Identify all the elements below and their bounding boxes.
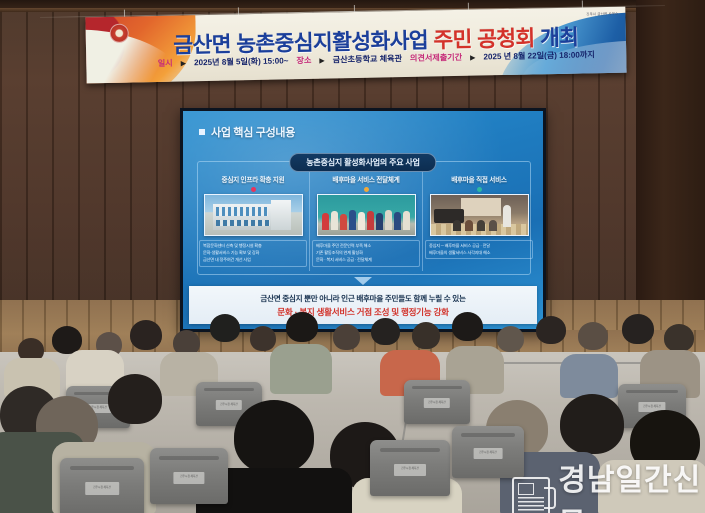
audience-body [270, 344, 332, 394]
bullet-item: 배후마을의 생활서비스 사각지대 해소 [429, 250, 529, 256]
chair-tag: 진주시청 체육관 [394, 464, 426, 476]
column-header: 배후마을 직접 서비스 [451, 174, 507, 184]
triangle-icon: ▶ [181, 59, 187, 67]
chair-tag: 진주시청 체육관 [216, 400, 242, 410]
chair: 진주시청 체육관 [370, 440, 450, 496]
column-dot-icon [477, 187, 482, 192]
presentation-slide: 사업 핵심 구성내용 농촌중심지 활성화사업의 주요 사업 중심지 인프라 확충… [183, 111, 543, 329]
audience-head [578, 322, 608, 350]
bullet-item: 금산면 내 정주여건 개선 사업 [203, 257, 303, 263]
audience-head [497, 326, 524, 352]
audience-area: 진주시청 체육관 진주시청 체육관 진주시청 체육관 진주시청 체육관 진주시청… [0, 300, 705, 513]
down-arrow-icon [354, 277, 372, 285]
chair-tag: 진주시청 체육관 [85, 482, 119, 495]
column-photo [317, 194, 416, 236]
column-photo [204, 194, 303, 236]
audience-head [371, 318, 400, 345]
audience-head [412, 322, 440, 349]
bullet-item: 배후마을 주민 전문인력 부족 해소 [316, 243, 416, 249]
chair-tag: 진주시청 체육관 [173, 472, 204, 484]
square-bullet-icon [199, 129, 205, 135]
banner-corner-note: 진주시 금산면 사무소 [586, 12, 618, 18]
audience-head [286, 312, 318, 342]
audience-head [560, 394, 624, 454]
triangle-icon: ▶ [319, 56, 325, 64]
banner-date-label: 일시 [158, 58, 173, 69]
banner-comment-label: 의견서제출기간 [410, 52, 462, 64]
column-header: 중심지 인프라 확충 지원 [222, 174, 285, 184]
bullet-item: 문화 · 복지 서비스 공급 · 전달체계 [316, 257, 416, 263]
audience-body [598, 460, 705, 513]
banner-date-value: 2025년 8월 5일(화) 15:00~ [194, 55, 289, 68]
audience-head [108, 374, 162, 424]
audience-body [560, 354, 618, 398]
column-bullets: 배후마을 주민 전문인력 부족 해소 기존 활동조직의 연계 활성화 문화 · … [312, 240, 420, 267]
chair-tag: 진주시청 체육관 [424, 398, 450, 408]
column-photo [430, 194, 529, 236]
event-banner: 진주시 금산면 사무소 금산면 농촌중심지활성화사업 주민 공청회 개최 일시 … [85, 7, 626, 84]
column-header: 배후마을 서비스 전달체계 [332, 174, 399, 184]
slide-heading-text: 사업 핵심 구성내용 [211, 124, 295, 140]
bullet-item: 기존 활동조직의 연계 활성화 [316, 250, 416, 256]
audience-head [130, 320, 162, 350]
column-dot-icon [364, 187, 369, 192]
bullet-item: 중심지 ─ 배후마을 서비스 공급 · 전달 [429, 243, 529, 249]
wall-door [636, 0, 705, 340]
slide-column: 배후마을 직접 서비스 중심지 ─ 배후마을 서비스 공급 · 전달 배후마을의… [425, 165, 533, 273]
chair: 진주시청 체육관 [150, 448, 228, 504]
audience-head [333, 324, 360, 350]
audience-head [250, 326, 276, 351]
column-dot-icon [251, 187, 256, 192]
audience-head [234, 400, 314, 474]
audience-head [664, 324, 694, 352]
chair: 진주시청 체육관 [60, 458, 144, 513]
chair: 진주시청 체육관 [452, 426, 524, 478]
slide-column: 중심지 인프라 확충 지원 복합문화센터 신축 및 행정시설 확충 문화·생활서… [199, 165, 307, 273]
photograph-scene: 진주시 금산면 사무소 금산면 농촌중심지활성화사업 주민 공청회 개최 일시 … [0, 0, 705, 513]
banner-place-value: 금산초등학교 체육관 [333, 53, 402, 65]
bullet-item: 문화·생활서비스 기능 확보 및 강화 [203, 250, 303, 256]
triangle-icon: ▶ [470, 53, 476, 61]
banner-place-label: 장소 [296, 55, 311, 66]
banner-title-part2: 주민 공청회 [433, 26, 535, 52]
projection-screen: 사업 핵심 구성내용 농촌중심지 활성화사업의 주요 사업 중심지 인프라 확충… [180, 108, 546, 332]
chair: 진주시청 체육관 [404, 380, 470, 424]
chair-tag: 진주시청 체육관 [474, 448, 503, 459]
slide-column: 배후마을 서비스 전달체계 [312, 165, 420, 273]
column-bullets: 중심지 ─ 배후마을 서비스 공급 · 전달 배후마을의 생활서비스 사각지대 … [425, 240, 533, 260]
slide-title-box: 농촌중심지 활성화사업의 주요 사업 [289, 153, 436, 172]
slide-heading: 사업 핵심 구성내용 [199, 124, 295, 140]
audience-head [210, 314, 240, 342]
column-bullets: 복합문화센터 신축 및 행정시설 확충 문화·생활서비스 기능 확보 및 강화 … [199, 240, 307, 267]
banner-title-part3: 개최 [540, 26, 579, 51]
slide-columns: 중심지 인프라 확충 지원 복합문화센터 신축 및 행정시설 확충 문화·생활서… [199, 165, 527, 273]
audience-head [536, 316, 566, 344]
banner-comment-value: 2025 년 8월 22일(금) 18:00까지 [483, 49, 594, 62]
audience-head [622, 314, 654, 344]
bullet-item: 복합문화센터 신축 및 행정시설 확충 [203, 243, 303, 249]
audience-head [452, 312, 483, 341]
